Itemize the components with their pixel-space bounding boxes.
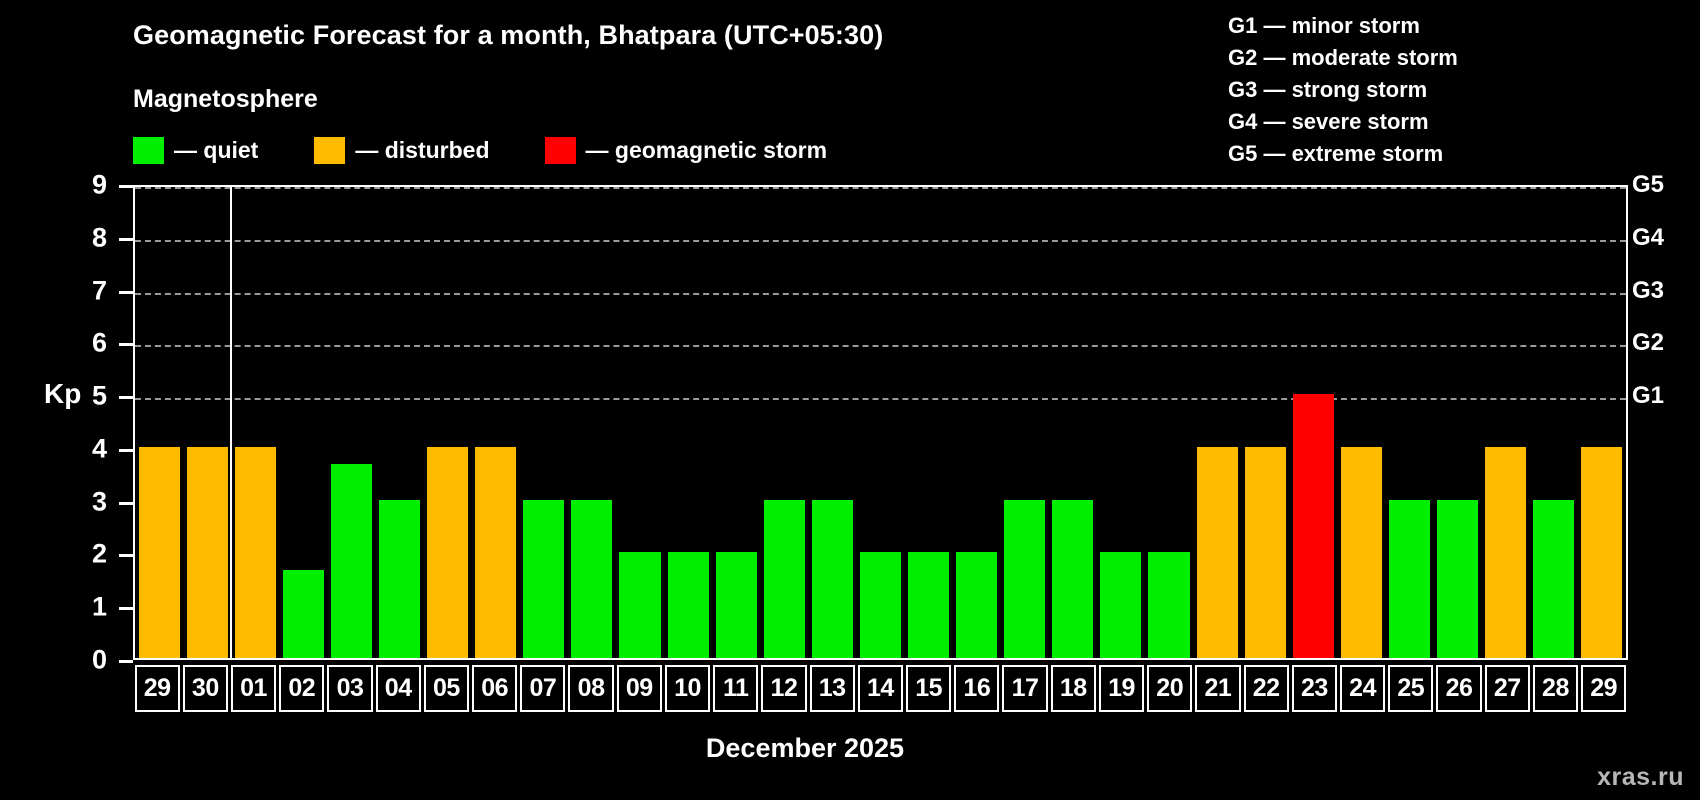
day-label-03: 03 — [327, 665, 372, 712]
bar-21-disturbed — [1197, 447, 1238, 658]
g-scale-axis: G1G2G3G4G5 — [1632, 185, 1700, 660]
x-axis-caption: December 2025 — [0, 733, 1700, 764]
legend-label-disturbed: — disturbed — [355, 137, 489, 164]
y-axis: 0123456789 — [0, 185, 133, 660]
x-axis-caption-text: December 2025 — [706, 733, 904, 763]
bar-cell — [135, 187, 183, 658]
bar-cell — [953, 187, 1001, 658]
day-label-13: 13 — [810, 665, 855, 712]
y-tick-label-2: 2 — [92, 539, 107, 570]
bar-20-quiet — [1148, 552, 1189, 658]
day-label-19: 19 — [1099, 665, 1144, 712]
bar-12-quiet — [764, 500, 805, 658]
y-tick-label-7: 7 — [92, 275, 107, 306]
bar-28-quiet — [1533, 500, 1574, 658]
y-tick-label-6: 6 — [92, 328, 107, 359]
bar-03-quiet — [331, 464, 372, 658]
legend-item-disturbed: — disturbed — [314, 137, 489, 164]
legend-swatch-storm — [545, 137, 576, 164]
color-legend: — quiet — disturbed — geomagnetic storm — [133, 135, 827, 165]
day-label-04: 04 — [376, 665, 421, 712]
bar-cell — [472, 187, 520, 658]
bar-07-quiet — [523, 500, 564, 658]
day-label-14: 14 — [858, 665, 903, 712]
day-label-05: 05 — [424, 665, 469, 712]
bar-18-quiet — [1052, 500, 1093, 658]
bar-02-quiet — [283, 570, 324, 658]
y-tick-label-4: 4 — [92, 433, 107, 464]
bar-29-disturbed — [1581, 447, 1622, 658]
storm-scale-line-g1: G1 — minor storm — [1228, 10, 1458, 42]
day-label-29: 29 — [135, 665, 180, 712]
day-label-01: 01 — [231, 665, 276, 712]
y-tick-label-3: 3 — [92, 486, 107, 517]
bar-cell — [905, 187, 953, 658]
g-tick-label-g3: G3 — [1632, 277, 1664, 305]
bar-13-quiet — [812, 500, 853, 658]
g-tick-label-g1: G1 — [1632, 382, 1664, 410]
bar-30-disturbed — [187, 447, 228, 658]
bar-cell — [520, 187, 568, 658]
bar-cell — [1482, 187, 1530, 658]
bar-cell — [760, 187, 808, 658]
day-label-11: 11 — [713, 665, 758, 712]
legend-item-quiet: — quiet — [133, 137, 258, 164]
bar-26-quiet — [1437, 500, 1478, 658]
y-tick-mark-2 — [119, 554, 133, 557]
y-tick-mark-7 — [119, 291, 133, 294]
bar-22-disturbed — [1245, 447, 1286, 658]
bar-17-quiet — [1004, 500, 1045, 658]
day-label-29: 29 — [1581, 665, 1626, 712]
day-label-02: 02 — [279, 665, 324, 712]
y-tick-mark-4 — [119, 449, 133, 452]
bar-cell — [183, 187, 231, 658]
legend-label-storm: — geomagnetic storm — [586, 137, 828, 164]
day-label-12: 12 — [761, 665, 806, 712]
y-tick-label-1: 1 — [92, 592, 107, 623]
storm-scale-line-g5: G5 — extreme storm — [1228, 138, 1458, 170]
g-tick-label-g2: G2 — [1632, 329, 1664, 357]
bar-06-disturbed — [475, 447, 516, 658]
legend-swatch-quiet — [133, 137, 164, 164]
day-label-25: 25 — [1388, 665, 1433, 712]
day-label-17: 17 — [1002, 665, 1047, 712]
legend-label-quiet: — quiet — [174, 137, 258, 164]
legend-swatch-disturbed — [314, 137, 345, 164]
bar-cell — [279, 187, 327, 658]
bar-cell — [616, 187, 664, 658]
y-tick-label-5: 5 — [92, 381, 107, 412]
g-tick-label-g5: G5 — [1632, 171, 1664, 199]
day-label-26: 26 — [1436, 665, 1481, 712]
y-tick-mark-9 — [119, 185, 133, 188]
day-label-18: 18 — [1051, 665, 1096, 712]
bar-cell — [1097, 187, 1145, 658]
bar-cell — [1337, 187, 1385, 658]
bar-11-quiet — [716, 552, 757, 658]
bar-29-disturbed — [139, 447, 180, 658]
day-label-30: 30 — [183, 665, 228, 712]
bar-14-quiet — [860, 552, 901, 658]
day-label-09: 09 — [617, 665, 662, 712]
day-label-15: 15 — [906, 665, 951, 712]
day-label-24: 24 — [1340, 665, 1385, 712]
bar-08-quiet — [571, 500, 612, 658]
bar-cell — [424, 187, 472, 658]
bar-cell — [856, 187, 904, 658]
geomagnetic-forecast-chart: Geomagnetic Forecast for a month, Bhatpa… — [0, 0, 1700, 800]
bar-series — [135, 187, 1626, 658]
bar-01-disturbed — [235, 447, 276, 658]
day-label-22: 22 — [1244, 665, 1289, 712]
storm-scale-line-g4: G4 — severe storm — [1228, 106, 1458, 138]
bar-cell — [1434, 187, 1482, 658]
legend-item-storm: — geomagnetic storm — [545, 137, 828, 164]
bar-cell — [375, 187, 423, 658]
bar-cell — [1241, 187, 1289, 658]
g-tick-label-g4: G4 — [1632, 224, 1664, 252]
bar-cell — [1385, 187, 1433, 658]
storm-scale-line-g3: G3 — strong storm — [1228, 74, 1458, 106]
bar-15-quiet — [908, 552, 949, 658]
y-tick-label-0: 0 — [92, 645, 107, 676]
bar-05-disturbed — [427, 447, 468, 658]
bar-cell — [568, 187, 616, 658]
y-tick-mark-5 — [119, 396, 133, 399]
bar-23-storm — [1293, 394, 1334, 658]
bar-cell — [1193, 187, 1241, 658]
bar-cell — [231, 187, 279, 658]
y-tick-label-9: 9 — [92, 170, 107, 201]
bar-25-quiet — [1389, 500, 1430, 658]
day-label-07: 07 — [520, 665, 565, 712]
bar-cell — [1049, 187, 1097, 658]
bar-09-quiet — [619, 552, 660, 658]
y-tick-mark-0 — [119, 660, 133, 663]
watermark: xras.ru — [1597, 763, 1684, 792]
bar-16-quiet — [956, 552, 997, 658]
bar-27-disturbed — [1485, 447, 1526, 658]
bar-cell — [1001, 187, 1049, 658]
day-label-06: 06 — [472, 665, 517, 712]
day-label-20: 20 — [1147, 665, 1192, 712]
bar-cell — [327, 187, 375, 658]
magnetosphere-label: Magnetosphere — [133, 85, 318, 114]
day-label-16: 16 — [954, 665, 999, 712]
plot-area — [133, 185, 1628, 660]
y-tick-label-8: 8 — [92, 222, 107, 253]
page-title: Geomagnetic Forecast for a month, Bhatpa… — [133, 20, 883, 51]
day-label-strip: 2930010203040506070809101112131415161718… — [133, 665, 1628, 712]
bar-cell — [1145, 187, 1193, 658]
day-label-21: 21 — [1195, 665, 1240, 712]
day-label-10: 10 — [665, 665, 710, 712]
storm-scale-legend: G1 — minor storm G2 — moderate storm G3 … — [1228, 10, 1458, 170]
bar-10-quiet — [668, 552, 709, 658]
bar-24-disturbed — [1341, 447, 1382, 658]
day-label-23: 23 — [1292, 665, 1337, 712]
bar-19-quiet — [1100, 552, 1141, 658]
y-tick-mark-8 — [119, 238, 133, 241]
y-tick-mark-6 — [119, 343, 133, 346]
bar-04-quiet — [379, 500, 420, 658]
bar-cell — [664, 187, 712, 658]
day-label-08: 08 — [568, 665, 613, 712]
bar-cell — [1578, 187, 1626, 658]
bar-cell — [712, 187, 760, 658]
day-label-28: 28 — [1533, 665, 1578, 712]
bar-cell — [1289, 187, 1337, 658]
storm-scale-line-g2: G2 — moderate storm — [1228, 42, 1458, 74]
day-label-27: 27 — [1485, 665, 1530, 712]
y-tick-mark-3 — [119, 502, 133, 505]
bar-cell — [1530, 187, 1578, 658]
bar-cell — [808, 187, 856, 658]
y-tick-mark-1 — [119, 607, 133, 610]
